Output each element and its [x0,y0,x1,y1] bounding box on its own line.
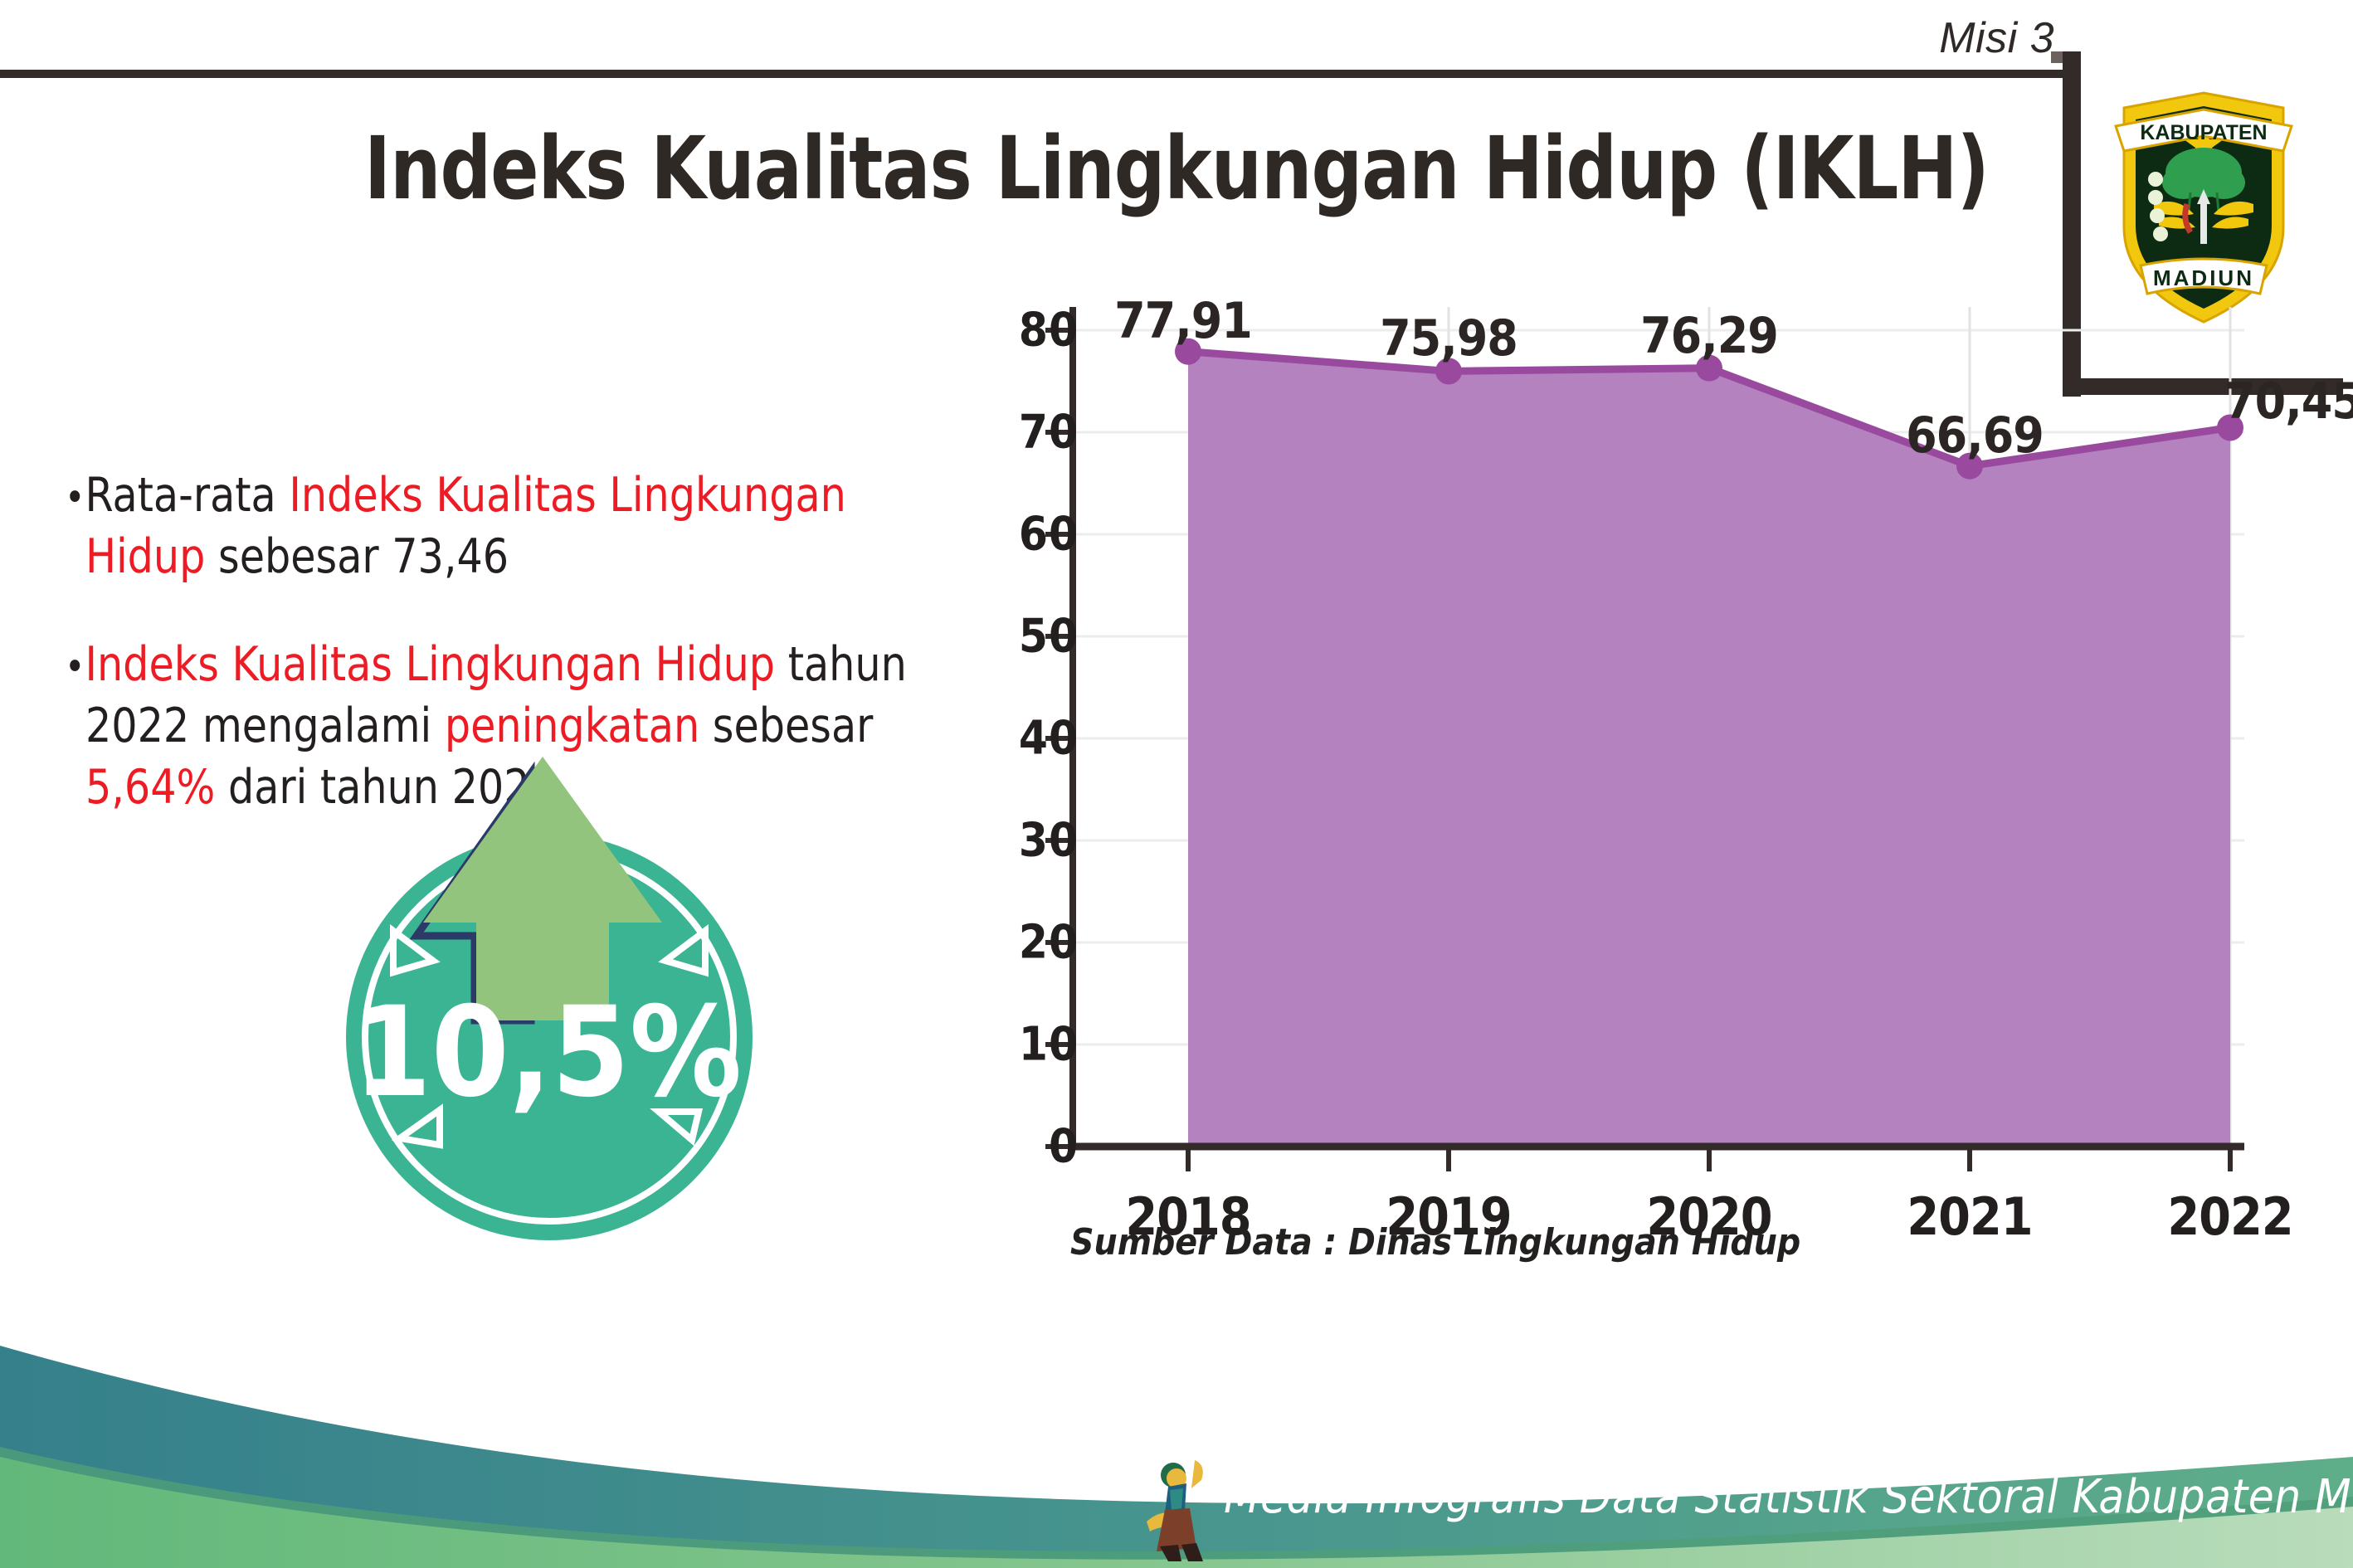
y-axis-tick-label: 50 [1019,610,1079,664]
bullet-text-segment: Indeks Kualitas Lingkungan Hidup [85,637,775,692]
bullet-text-segment: 5,64% [85,760,215,815]
bullet-text-segment: sebesar [699,699,873,753]
data-label: 76,29 [1640,307,1778,365]
data-label: 66,69 [1906,407,2044,465]
x-axis-tick-label: 2021 [1907,1186,2032,1247]
y-axis-tick-label: 80 [1019,304,1079,358]
data-label: 70,45 [2224,373,2353,431]
y-axis-tick-label: 70 [1019,406,1079,460]
bullet-text-segment: Rata-rata [85,468,289,523]
bullet-marker: • [65,644,85,690]
y-axis-labels: 01020304050607080 [962,290,1079,1203]
data-label: 77,91 [1114,292,1252,350]
source-note: Sumber Data : Dinas Lingkungan Hidup [1070,1221,1800,1264]
y-axis-tick-label: 0 [1049,1120,1079,1174]
badge-value: 10,5% [353,981,742,1125]
header-rule [0,70,2063,78]
bullet-text-segment: sebesar 73,46 [205,529,509,584]
bullet-text-segment: peningkatan [445,699,699,753]
increase-badge: 10,5% [317,747,782,1244]
page-title: Indeks Kualitas Lingkungan Hidup (IKLH) [94,118,2258,219]
data-label: 75,98 [1380,309,1518,368]
bullet-marker: • [65,475,85,521]
y-axis-tick-label: 30 [1019,814,1079,868]
y-axis-tick-label: 20 [1019,916,1079,970]
area-fill [1188,352,2230,1147]
y-axis-tick-label: 60 [1019,508,1079,562]
y-axis-tick-label: 10 [1019,1018,1079,1072]
list-item: •Rata-rata Indeks Kualitas Lingkungan Hi… [65,465,957,587]
iklh-area-chart: 01020304050607080 20182019202020212022 7… [962,290,2290,1203]
footer-caption: Media Infografis Data Statistik Sektoral… [1224,1470,2353,1524]
dancer-logo-icon [1137,1450,1228,1566]
y-axis-tick-label: 40 [1019,712,1079,766]
x-axis-tick-label: 2022 [2167,1186,2292,1247]
infographic-slide: Misi 3 KABU [0,0,2353,1568]
logo-bottom-text: MADIUN [2153,265,2254,290]
mission-label: Misi 3 [1939,13,2054,63]
